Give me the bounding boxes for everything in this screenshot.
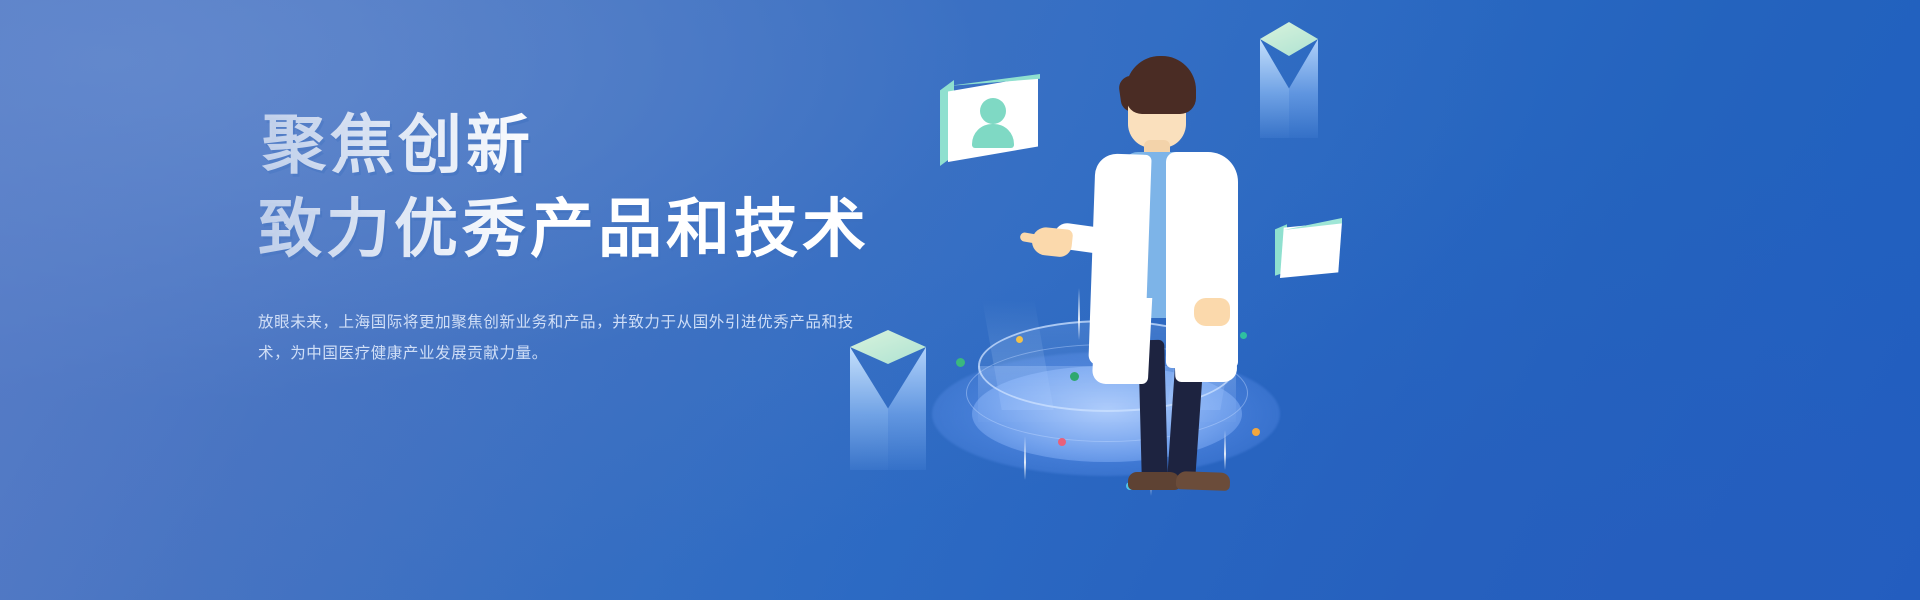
hero-illustration — [820, 0, 1920, 600]
bar-top-face — [850, 330, 926, 364]
doctor-shoe-left — [1128, 472, 1180, 490]
doctor-coat-left — [1088, 153, 1151, 367]
doctor-hair — [1126, 56, 1196, 114]
doctor-hand-on-hip — [1194, 298, 1230, 326]
doctor-coat-right — [1166, 152, 1238, 368]
headline-line-1: 聚焦创新 — [262, 108, 878, 184]
doctor-figure — [1048, 48, 1308, 468]
headline-line-2: 致力优秀产品和技术 — [258, 192, 878, 268]
bar-face-right — [888, 347, 926, 470]
floating-user-card — [938, 72, 1044, 172]
decorative-3d-bar-left — [850, 330, 926, 470]
user-avatar-icon — [980, 98, 1006, 124]
banner-text-block: 聚焦创新 致力优秀产品和技术 放眼未来，上海国际将更加聚焦创新业务和产品，并致力… — [258, 108, 878, 369]
light-streak — [1024, 436, 1026, 480]
bar-face-left — [850, 347, 888, 470]
banner-description: 放眼未来，上海国际将更加聚焦创新业务和产品，并致力于从国外引进优秀产品和技术，为… — [258, 307, 858, 369]
doctor-shoe-right — [1176, 471, 1231, 491]
particle-dot — [956, 358, 965, 367]
particle-dot — [1016, 336, 1023, 343]
hero-banner: 聚焦创新 致力优秀产品和技术 放眼未来，上海国际将更加聚焦创新业务和产品，并致力… — [0, 0, 1920, 600]
